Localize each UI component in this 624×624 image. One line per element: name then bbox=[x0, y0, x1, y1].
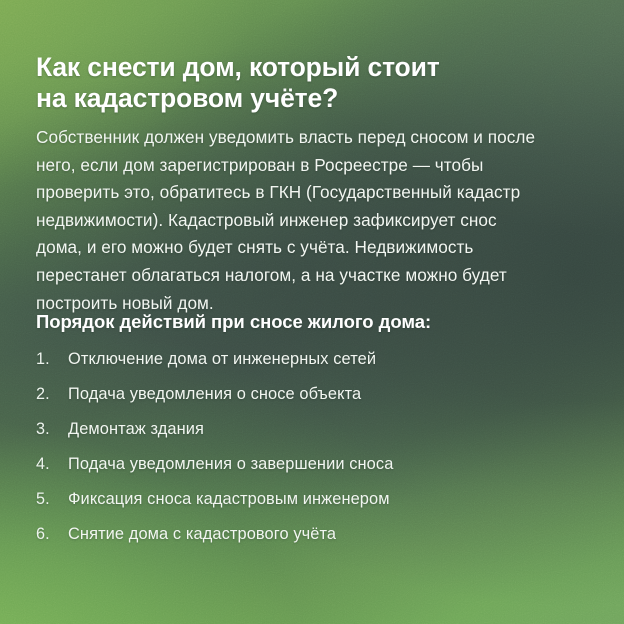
list-item: 2. Подача уведомления о сносе объекта bbox=[36, 377, 576, 412]
list-item-number: 6. bbox=[36, 517, 62, 552]
slide-content: Как снести дом, который стоит на кадастр… bbox=[36, 0, 588, 624]
list-item-number: 3. bbox=[36, 412, 62, 447]
list-item: 6. Снятие дома с кадастрового учёта bbox=[36, 517, 576, 552]
body-line: Собственник должен уведомить власть пере… bbox=[36, 124, 581, 152]
list-item: 4. Подача уведомления о завершении сноса bbox=[36, 447, 576, 482]
list-item: 5. Фиксация сноса кадастровым инженером bbox=[36, 482, 576, 517]
body-line: проверить это, обратитесь в ГКН (Государ… bbox=[36, 179, 581, 207]
body-line: него, если дом зарегистрирован в Росреес… bbox=[36, 152, 581, 180]
list-item-label: Демонтаж здания bbox=[68, 412, 204, 447]
list-item-number: 1. bbox=[36, 342, 62, 377]
list-item-number: 2. bbox=[36, 377, 62, 412]
list-item-label: Подача уведомления о завершении сноса bbox=[68, 447, 393, 482]
list-item-label: Фиксация сноса кадастровым инженером bbox=[68, 482, 390, 517]
body-line: перестанет облагаться налогом, а на учас… bbox=[36, 262, 581, 290]
list-item: 3. Демонтаж здания bbox=[36, 412, 576, 447]
section-subheading: Порядок действий при сносе жилого дома: bbox=[36, 310, 556, 334]
page-title-line-2: на кадастровом учёте? bbox=[36, 83, 556, 114]
list-item-label: Подача уведомления о сносе объекта bbox=[68, 377, 361, 412]
infographic-slide: Как снести дом, который стоит на кадастр… bbox=[0, 0, 624, 624]
list-item-label: Отключение дома от инженерных сетей bbox=[68, 342, 376, 377]
list-item-number: 4. bbox=[36, 447, 62, 482]
list-item: 1. Отключение дома от инженерных сетей bbox=[36, 342, 576, 377]
body-line: недвижимости). Кадастровый инженер зафик… bbox=[36, 207, 581, 235]
page-title-line-1: Как снести дом, который стоит bbox=[36, 52, 556, 83]
body-line: дома, и его можно будет снять с учёта. Н… bbox=[36, 234, 581, 262]
list-item-label: Снятие дома с кадастрового учёта bbox=[68, 517, 336, 552]
page-title: Как снести дом, который стоит на кадастр… bbox=[36, 52, 556, 114]
list-item-number: 5. bbox=[36, 482, 62, 517]
steps-list: 1. Отключение дома от инженерных сетей 2… bbox=[36, 342, 576, 552]
body-paragraph: Собственник должен уведомить власть пере… bbox=[36, 124, 581, 317]
